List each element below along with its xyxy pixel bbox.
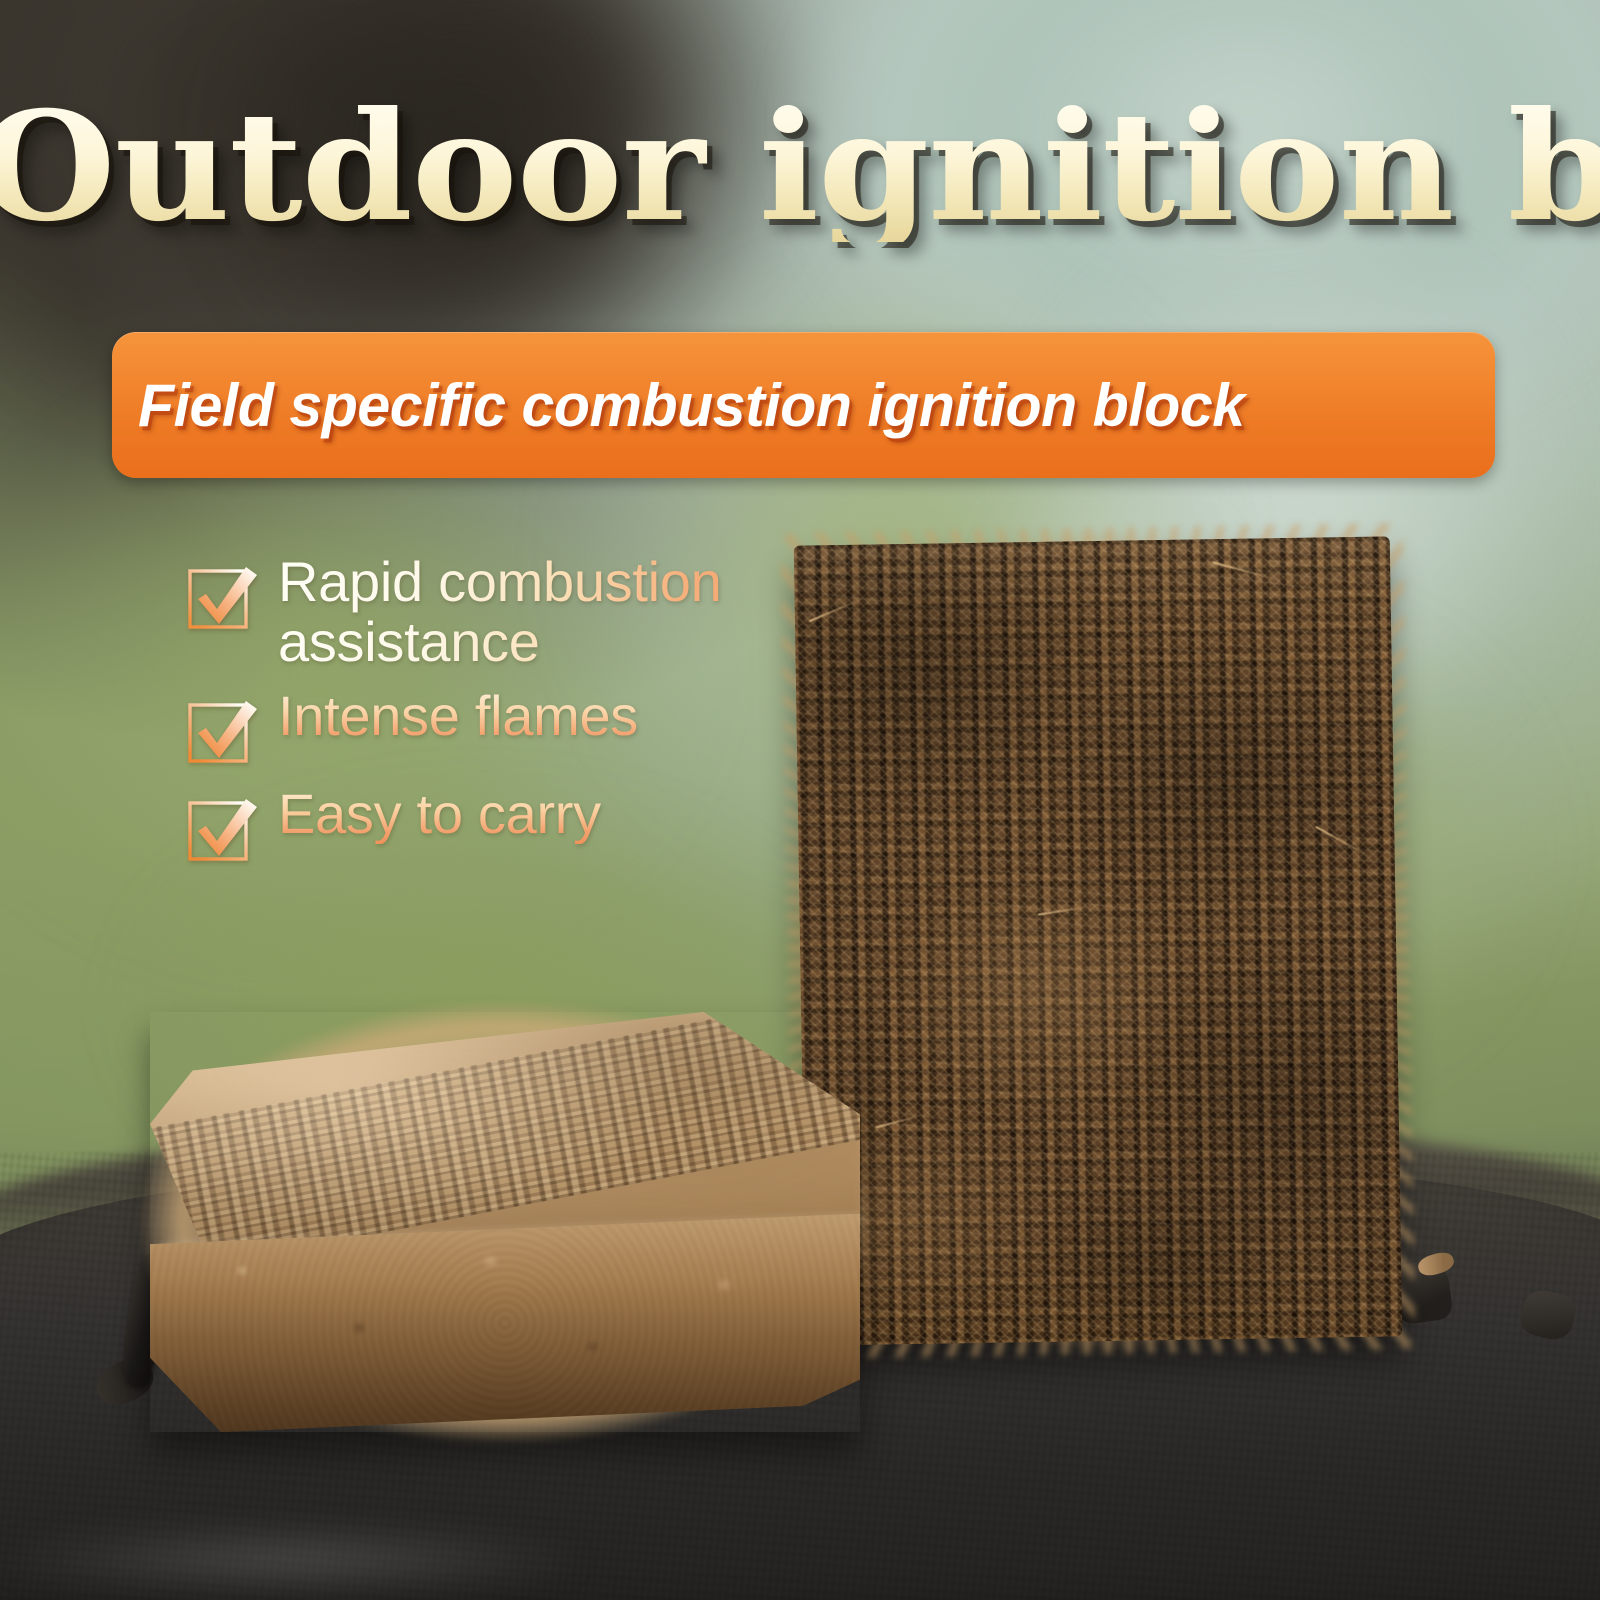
fire-starter-block-upright xyxy=(794,536,1402,1345)
block-front-face xyxy=(150,1214,860,1432)
feature-label: Rapid combustion assistance xyxy=(278,552,818,672)
block-woven-face xyxy=(794,536,1402,1345)
feature-list: Rapid combustion assistance xyxy=(186,552,826,882)
fire-starter-block-lying xyxy=(150,1012,860,1432)
product-poster: Outdoor ignition block Field specific co… xyxy=(0,0,1600,1600)
feature-label: Easy to carry xyxy=(278,784,601,844)
feature-item: Intense flames xyxy=(186,686,826,770)
subtitle-banner-label: Field specific combustion ignition block xyxy=(138,371,1245,440)
subtitle-banner: Field specific combustion ignition block xyxy=(112,332,1495,478)
feature-item: Easy to carry xyxy=(186,784,826,868)
checkbox-checked-icon xyxy=(186,558,264,636)
burlap-shading xyxy=(794,536,1402,1345)
checkbox-checked-icon xyxy=(186,692,264,770)
feature-label: Intense flames xyxy=(278,686,638,746)
bark-highlight xyxy=(0,1531,596,1589)
page-title: Outdoor ignition block xyxy=(0,92,1600,242)
block-front-shading xyxy=(150,1214,860,1432)
checkbox-checked-icon xyxy=(186,790,264,868)
feature-item: Rapid combustion assistance xyxy=(186,552,826,672)
